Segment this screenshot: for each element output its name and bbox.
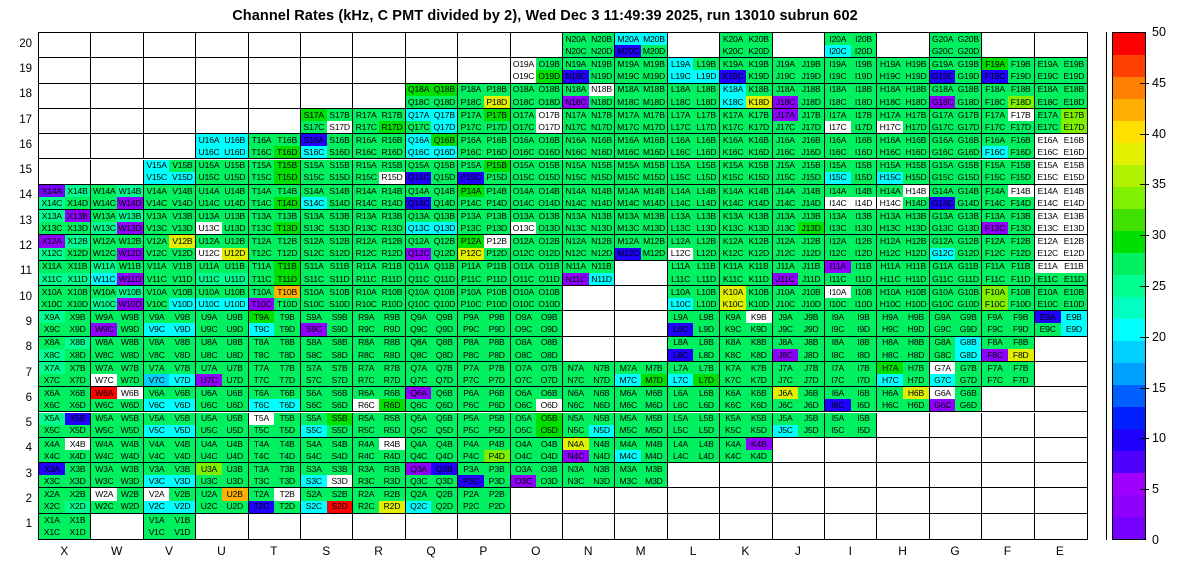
- channel-label[interactable]: W3D: [117, 475, 143, 487]
- heatmap-cell[interactable]: H18AH18BH18CH18D: [877, 84, 929, 109]
- channel-label[interactable]: R16C: [353, 146, 379, 158]
- channel-label[interactable]: O7D: [536, 374, 562, 386]
- heatmap-cell[interactable]: V11AV11BV11CV11D: [144, 261, 196, 286]
- channel-label[interactable]: X12C: [39, 248, 65, 260]
- channel-label[interactable]: O15C: [511, 172, 537, 184]
- channel-label[interactable]: N13D: [589, 222, 615, 234]
- channel-label[interactable]: R15D: [379, 172, 405, 184]
- heatmap-cell[interactable]: X1AX1BX1CX1D: [39, 514, 91, 539]
- channel-label[interactable]: I5D: [851, 425, 877, 437]
- heatmap-cell[interactable]: [982, 438, 1034, 463]
- channel-label[interactable]: U15C: [196, 172, 222, 184]
- channel-label[interactable]: V8D: [169, 349, 195, 361]
- channel-label[interactable]: R7B: [379, 362, 405, 374]
- channel-label[interactable]: T7A: [249, 362, 275, 374]
- heatmap-cell[interactable]: I12AI12BI12CI12D: [825, 235, 877, 260]
- heatmap-cell[interactable]: O13AO13BO13CO13D: [511, 210, 563, 235]
- channel-label[interactable]: I15A: [825, 160, 851, 172]
- channel-label[interactable]: W5A: [91, 413, 117, 425]
- channel-label[interactable]: E15C: [1035, 172, 1061, 184]
- channel-label[interactable]: K16C: [720, 146, 746, 158]
- channel-label[interactable]: V10A: [144, 286, 170, 298]
- channel-label[interactable]: U14D: [222, 197, 248, 209]
- channel-label[interactable]: R3A: [353, 463, 379, 475]
- channel-label[interactable]: L5A: [668, 413, 694, 425]
- channel-label[interactable]: X6C: [39, 399, 65, 411]
- channel-label[interactable]: R4B: [379, 438, 405, 450]
- channel-label[interactable]: K5D: [746, 425, 772, 437]
- heatmap-cell[interactable]: X4AX4BX4CX4D: [39, 438, 91, 463]
- heatmap-cell[interactable]: I13AI13BI13CI13D: [825, 210, 877, 235]
- channel-label[interactable]: I10C: [825, 298, 851, 310]
- channel-label[interactable]: L14B: [693, 185, 719, 197]
- channel-label[interactable]: J17D: [798, 121, 824, 133]
- channel-label[interactable]: M17B: [641, 109, 667, 121]
- channel-label[interactable]: X1B: [65, 514, 91, 527]
- channel-label[interactable]: G19A: [930, 58, 956, 70]
- channel-label[interactable]: W8A: [91, 337, 117, 349]
- channel-label[interactable]: V15B: [169, 160, 195, 172]
- channel-label[interactable]: N20D: [589, 45, 615, 57]
- channel-label[interactable]: N19A: [563, 58, 589, 70]
- heatmap-cell[interactable]: P13AP13BP13CP13D: [458, 210, 510, 235]
- heatmap-cell[interactable]: S3AS3BS3CS3D: [301, 463, 353, 488]
- channel-label[interactable]: X6D: [65, 399, 91, 411]
- channel-label[interactable]: M18C: [615, 96, 641, 108]
- channel-label[interactable]: H6D: [903, 399, 929, 411]
- channel-label[interactable]: P16A: [458, 134, 484, 146]
- heatmap-cell[interactable]: W4AW4BW4CW4D: [91, 438, 143, 463]
- heatmap-cell[interactable]: [196, 84, 248, 109]
- heatmap-cell[interactable]: R17AR17BR17CR17D: [353, 109, 405, 134]
- channel-label[interactable]: L17B: [693, 109, 719, 121]
- channel-label[interactable]: U2B: [222, 488, 248, 500]
- heatmap-cell[interactable]: [196, 58, 248, 83]
- channel-label[interactable]: H6C: [877, 399, 903, 411]
- channel-label[interactable]: N16A: [563, 134, 589, 146]
- heatmap-cell[interactable]: [144, 33, 196, 58]
- channel-label[interactable]: J8C: [773, 349, 799, 361]
- heatmap-cell[interactable]: R5AR5BR5CR5D: [353, 413, 405, 438]
- heatmap-cell[interactable]: [825, 438, 877, 463]
- channel-label[interactable]: P15A: [458, 160, 484, 172]
- channel-label[interactable]: O17B: [536, 109, 562, 121]
- channel-label[interactable]: R9B: [379, 311, 405, 323]
- channel-label[interactable]: N20B: [589, 33, 615, 45]
- channel-label[interactable]: N11A: [563, 261, 589, 273]
- heatmap-cell[interactable]: M7AM7BM7CM7D: [615, 362, 667, 387]
- channel-label[interactable]: U9D: [222, 323, 248, 335]
- channel-label[interactable]: O9C: [511, 323, 537, 335]
- heatmap-cell[interactable]: K19AK19BK19CK19D: [720, 58, 772, 83]
- channel-label[interactable]: G20D: [955, 45, 981, 57]
- channel-label[interactable]: M14D: [641, 197, 667, 209]
- heatmap-cell[interactable]: [196, 514, 248, 539]
- channel-label[interactable]: L6B: [693, 387, 719, 399]
- channel-label[interactable]: G20B: [955, 33, 981, 45]
- channel-label[interactable]: Q6A: [406, 387, 432, 399]
- channel-label[interactable]: Q2D: [431, 501, 457, 513]
- heatmap-cell[interactable]: [1035, 33, 1087, 58]
- heatmap-cell[interactable]: U10AU10BU10CU10D: [196, 286, 248, 311]
- channel-label[interactable]: J13D: [798, 222, 824, 234]
- channel-label[interactable]: W3A: [91, 463, 117, 475]
- channel-label[interactable]: F13A: [982, 210, 1008, 222]
- channel-label[interactable]: L8C: [668, 349, 694, 361]
- channel-label[interactable]: S4B: [327, 438, 353, 450]
- channel-label[interactable]: Q6B: [431, 387, 457, 399]
- channel-label[interactable]: W14C: [91, 197, 117, 209]
- heatmap-cell[interactable]: [982, 387, 1034, 412]
- channel-label[interactable]: T10B: [274, 286, 300, 298]
- channel-label[interactable]: F11B: [1008, 261, 1034, 273]
- channel-label[interactable]: O6B: [536, 387, 562, 399]
- heatmap-cell[interactable]: [39, 109, 91, 134]
- channel-label[interactable]: Q7A: [406, 362, 432, 374]
- channel-label[interactable]: S7C: [301, 374, 327, 386]
- heatmap-cell[interactable]: [615, 311, 667, 336]
- channel-label[interactable]: U12B: [222, 235, 248, 247]
- channel-label[interactable]: G12B: [955, 235, 981, 247]
- heatmap-cell[interactable]: [1035, 514, 1087, 539]
- channel-label[interactable]: V4A: [144, 438, 170, 450]
- channel-label[interactable]: V9B: [169, 311, 195, 323]
- heatmap-cell[interactable]: L13AL13BL13CL13D: [668, 210, 720, 235]
- channel-label[interactable]: X2D: [65, 501, 91, 513]
- channel-label[interactable]: S6B: [327, 387, 353, 399]
- heatmap-cell[interactable]: [773, 488, 825, 513]
- heatmap-cell[interactable]: O14AO14BO14CO14D: [511, 185, 563, 210]
- heatmap-cell[interactable]: Q4AQ4BQ4CQ4D: [406, 438, 458, 463]
- channel-label[interactable]: G7D: [955, 374, 981, 386]
- channel-label[interactable]: I6B: [851, 387, 877, 399]
- heatmap-cell[interactable]: H15AH15BH15CH15D: [877, 160, 929, 185]
- channel-label[interactable]: R5A: [353, 413, 379, 425]
- channel-label[interactable]: L16B: [693, 134, 719, 146]
- channel-label[interactable]: G13A: [930, 210, 956, 222]
- channel-label[interactable]: I17C: [825, 121, 851, 133]
- channel-label[interactable]: N12D: [589, 248, 615, 260]
- channel-label[interactable]: G8D: [955, 349, 981, 361]
- channel-label[interactable]: V1C: [144, 526, 170, 539]
- channel-label[interactable]: M19D: [641, 70, 667, 82]
- heatmap-cell[interactable]: T5AT5BT5CT5D: [249, 413, 301, 438]
- heatmap-cell[interactable]: [773, 514, 825, 539]
- channel-label[interactable]: N6D: [589, 399, 615, 411]
- channel-label[interactable]: H16D: [903, 146, 929, 158]
- heatmap-cell[interactable]: [91, 58, 143, 83]
- heatmap-cell[interactable]: [982, 413, 1034, 438]
- channel-label[interactable]: W5D: [117, 425, 143, 437]
- channel-label[interactable]: M17D: [641, 121, 667, 133]
- channel-label[interactable]: P2D: [484, 501, 510, 513]
- channel-label[interactable]: U14C: [196, 197, 222, 209]
- channel-label[interactable]: N5D: [589, 425, 615, 437]
- channel-label[interactable]: Q8A: [406, 337, 432, 349]
- channel-label[interactable]: K19D: [746, 70, 772, 82]
- channel-label[interactable]: G20A: [930, 33, 956, 45]
- channel-label[interactable]: M18D: [641, 96, 667, 108]
- channel-label[interactable]: O9A: [511, 311, 537, 323]
- channel-label[interactable]: G17C: [930, 121, 956, 133]
- channel-label[interactable]: W14B: [117, 185, 143, 197]
- channel-label[interactable]: V6C: [144, 399, 170, 411]
- channel-label[interactable]: R17A: [353, 109, 379, 121]
- heatmap-cell[interactable]: [406, 514, 458, 539]
- channel-label[interactable]: O7C: [511, 374, 537, 386]
- channel-label[interactable]: P11C: [458, 273, 484, 285]
- heatmap-cell[interactable]: E11AE11BE11CE11D: [1035, 261, 1087, 286]
- heatmap-cell[interactable]: V9AV9BV9CV9D: [144, 311, 196, 336]
- heatmap-cell[interactable]: U4AU4BU4CU4D: [196, 438, 248, 463]
- channel-label[interactable]: O15B: [536, 160, 562, 172]
- channel-label[interactable]: F7B: [1008, 362, 1034, 374]
- heatmap-cell[interactable]: R11AR11BR11CR11D: [353, 261, 405, 286]
- channel-label[interactable]: V8C: [144, 349, 170, 361]
- channel-label[interactable]: E16C: [1035, 146, 1061, 158]
- channel-label[interactable]: V11D: [169, 273, 195, 285]
- channel-label[interactable]: S7D: [327, 374, 353, 386]
- channel-label[interactable]: U9B: [222, 311, 248, 323]
- channel-label[interactable]: O11C: [511, 273, 537, 285]
- channel-label[interactable]: R6C: [353, 399, 379, 411]
- channel-label[interactable]: O4A: [511, 438, 537, 450]
- channel-label[interactable]: I10B: [851, 286, 877, 298]
- channel-label[interactable]: S8D: [327, 349, 353, 361]
- channel-label[interactable]: I14A: [825, 185, 851, 197]
- channel-label[interactable]: I18B: [851, 84, 877, 96]
- channel-label[interactable]: V4D: [169, 450, 195, 462]
- channel-label[interactable]: I17A: [825, 109, 851, 121]
- heatmap-cell[interactable]: X13AX13BX13CX13D: [39, 210, 91, 235]
- heatmap-cell[interactable]: R7AR7BR7CR7D: [353, 362, 405, 387]
- channel-label[interactable]: U3A: [196, 463, 222, 475]
- heatmap-cell[interactable]: [668, 33, 720, 58]
- channel-label[interactable]: W10C: [91, 298, 117, 310]
- channel-label[interactable]: T10C: [249, 298, 275, 310]
- channel-label[interactable]: S4D: [327, 450, 353, 462]
- channel-label[interactable]: P3D: [484, 475, 510, 487]
- channel-label[interactable]: T16A: [249, 134, 275, 146]
- channel-label[interactable]: O13D: [536, 222, 562, 234]
- heatmap-cell[interactable]: P14AP14BP14CP14D: [458, 185, 510, 210]
- channel-label[interactable]: W6C: [91, 399, 117, 411]
- channel-label[interactable]: G12C: [930, 248, 956, 260]
- heatmap-cell[interactable]: [39, 160, 91, 185]
- channel-label[interactable]: S14B: [327, 185, 353, 197]
- heatmap-cell[interactable]: G10AG10BG10CG10D: [930, 286, 982, 311]
- heatmap-cell[interactable]: [877, 33, 929, 58]
- channel-label[interactable]: I8C: [825, 349, 851, 361]
- channel-label[interactable]: G6D: [955, 399, 981, 411]
- channel-label[interactable]: U10B: [222, 286, 248, 298]
- channel-label[interactable]: I15C: [825, 172, 851, 184]
- channel-label[interactable]: H18B: [903, 84, 929, 96]
- channel-label[interactable]: X7A: [39, 362, 65, 374]
- channel-label[interactable]: W10D: [117, 298, 143, 310]
- channel-label[interactable]: K18C: [720, 96, 746, 108]
- channel-label[interactable]: M19B: [641, 58, 667, 70]
- heatmap-cell[interactable]: O18AO18BO18CO18D: [511, 84, 563, 109]
- channel-label[interactable]: G10D: [955, 298, 981, 310]
- channel-label[interactable]: N4C: [563, 450, 589, 462]
- heatmap-cell[interactable]: S16AS16BS16CS16D: [301, 134, 353, 159]
- channel-label[interactable]: R8D: [379, 349, 405, 361]
- heatmap-cell[interactable]: [930, 514, 982, 539]
- channel-label[interactable]: I19B: [851, 58, 877, 70]
- channel-label[interactable]: K8A: [720, 337, 746, 349]
- channel-label[interactable]: K11C: [720, 273, 746, 285]
- channel-label[interactable]: P14A: [458, 185, 484, 197]
- channel-label[interactable]: P16D: [484, 146, 510, 158]
- channel-label[interactable]: F15A: [982, 160, 1008, 172]
- heatmap-cell[interactable]: O8AO8BO8CO8D: [511, 337, 563, 362]
- channel-label[interactable]: P13A: [458, 210, 484, 222]
- channel-label[interactable]: G9A: [930, 311, 956, 323]
- channel-label[interactable]: T7B: [274, 362, 300, 374]
- heatmap-cell[interactable]: J18AJ18BJ18CJ18D: [773, 84, 825, 109]
- heatmap-cell[interactable]: P8AP8BP8CP8D: [458, 337, 510, 362]
- channel-label[interactable]: M20B: [641, 33, 667, 45]
- channel-label[interactable]: H17A: [877, 109, 903, 121]
- channel-label[interactable]: O16A: [511, 134, 537, 146]
- channel-label[interactable]: K12C: [720, 248, 746, 260]
- channel-label[interactable]: G7B: [955, 362, 981, 374]
- channel-label[interactable]: P5D: [484, 425, 510, 437]
- heatmap-cell[interactable]: S2AS2BS2CS2D: [301, 488, 353, 513]
- channel-label[interactable]: G8A: [930, 337, 956, 349]
- channel-label[interactable]: I15D: [851, 172, 877, 184]
- channel-label[interactable]: N16C: [563, 146, 589, 158]
- channel-label[interactable]: N15A: [563, 160, 589, 172]
- channel-label[interactable]: H9D: [903, 323, 929, 335]
- channel-label[interactable]: N5C: [563, 425, 589, 437]
- channel-label[interactable]: I16B: [851, 134, 877, 146]
- channel-label[interactable]: X14C: [39, 197, 65, 209]
- heatmap-cell[interactable]: P5AP5BP5CP5D: [458, 413, 510, 438]
- channel-label[interactable]: P6C: [458, 399, 484, 411]
- channel-label[interactable]: P17C: [458, 121, 484, 133]
- channel-label[interactable]: H17C: [877, 121, 903, 133]
- channel-label[interactable]: O8C: [511, 349, 537, 361]
- channel-label[interactable]: P6B: [484, 387, 510, 399]
- channel-label[interactable]: Q11B: [431, 261, 457, 273]
- channel-label[interactable]: S10C: [301, 298, 327, 310]
- channel-label[interactable]: F9D: [1008, 323, 1034, 335]
- channel-label[interactable]: T7D: [274, 374, 300, 386]
- channel-label[interactable]: H14A: [877, 185, 903, 197]
- heatmap-cell[interactable]: U11AU11BU11CU11D: [196, 261, 248, 286]
- channel-label[interactable]: F18B: [1008, 84, 1034, 96]
- channel-label[interactable]: M15D: [641, 172, 667, 184]
- channel-label[interactable]: S6A: [301, 387, 327, 399]
- channel-label[interactable]: P2B: [484, 488, 510, 500]
- channel-label[interactable]: O12A: [511, 235, 537, 247]
- channel-label[interactable]: T7C: [249, 374, 275, 386]
- channel-label[interactable]: I18A: [825, 84, 851, 96]
- channel-label[interactable]: E15D: [1061, 172, 1087, 184]
- channel-label[interactable]: E13D: [1061, 222, 1087, 234]
- channel-label[interactable]: J8D: [798, 349, 824, 361]
- channel-label[interactable]: J9B: [798, 311, 824, 323]
- heatmap-cell[interactable]: S6AS6BS6CS6D: [301, 387, 353, 412]
- channel-label[interactable]: H11B: [903, 261, 929, 273]
- heatmap-cell[interactable]: O10AO10BO10CO10D: [511, 286, 563, 311]
- channel-label[interactable]: V13D: [169, 222, 195, 234]
- channel-label[interactable]: I12A: [825, 235, 851, 247]
- channel-label[interactable]: P9B: [484, 311, 510, 323]
- channel-label[interactable]: X3D: [65, 475, 91, 487]
- channel-label[interactable]: S12C: [301, 248, 327, 260]
- channel-label[interactable]: G12A: [930, 235, 956, 247]
- channel-label[interactable]: U5A: [196, 413, 222, 425]
- heatmap-cell[interactable]: V1AV1BV1CV1D: [144, 514, 196, 539]
- channel-label[interactable]: L19D: [693, 70, 719, 82]
- heatmap-cell[interactable]: [353, 33, 405, 58]
- heatmap-cell[interactable]: O12AO12BO12CO12D: [511, 235, 563, 260]
- heatmap-cell[interactable]: J14AJ14BJ14CJ14D: [773, 185, 825, 210]
- heatmap-cell[interactable]: [825, 488, 877, 513]
- channel-label[interactable]: O19B: [536, 58, 562, 70]
- channel-label[interactable]: W9C: [91, 323, 117, 335]
- channel-label[interactable]: I15B: [851, 160, 877, 172]
- channel-label[interactable]: G8B: [955, 337, 981, 349]
- heatmap-cell[interactable]: L19AL19BL19CL19D: [668, 58, 720, 83]
- heatmap-cell[interactable]: X8AX8BX8CX8D: [39, 337, 91, 362]
- channel-label[interactable]: T2D: [274, 501, 300, 513]
- channel-label[interactable]: X1D: [65, 526, 91, 539]
- channel-label[interactable]: X6B: [65, 387, 91, 399]
- heatmap-cell[interactable]: F16AF16BF16CF16D: [982, 134, 1034, 159]
- heatmap-cell[interactable]: [720, 488, 772, 513]
- channel-label[interactable]: K20B: [746, 33, 772, 45]
- heatmap-cell[interactable]: J6AJ6BJ6CJ6D: [773, 387, 825, 412]
- heatmap-cell[interactable]: [91, 514, 143, 539]
- heatmap-cell[interactable]: T3AT3BT3CT3D: [249, 463, 301, 488]
- heatmap-cell[interactable]: F7AF7BF7CF7D: [982, 362, 1034, 387]
- heatmap-cell[interactable]: U13AU13BU13CU13D: [196, 210, 248, 235]
- channel-label[interactable]: E11B: [1061, 261, 1087, 273]
- heatmap-cell[interactable]: [1035, 488, 1087, 513]
- channel-label[interactable]: O13C: [511, 222, 537, 234]
- channel-label[interactable]: L6C: [668, 399, 694, 411]
- channel-label[interactable]: W14D: [117, 197, 143, 209]
- channel-label[interactable]: K9C: [720, 323, 746, 335]
- channel-label[interactable]: V7D: [169, 374, 195, 386]
- channel-label[interactable]: P15C: [458, 172, 484, 184]
- heatmap-cell[interactable]: [91, 33, 143, 58]
- channel-label[interactable]: L11C: [668, 273, 694, 285]
- channel-label[interactable]: P13C: [458, 222, 484, 234]
- heatmap-cell[interactable]: [511, 488, 563, 513]
- channel-label[interactable]: J18A: [773, 84, 799, 96]
- channel-label[interactable]: G15C: [930, 172, 956, 184]
- heatmap-cell[interactable]: [91, 109, 143, 134]
- channel-label[interactable]: K13D: [746, 222, 772, 234]
- channel-label[interactable]: H14C: [877, 197, 903, 209]
- channel-label[interactable]: V14A: [144, 185, 170, 197]
- channel-label[interactable]: G13B: [955, 210, 981, 222]
- channel-label[interactable]: R12C: [353, 248, 379, 260]
- channel-label[interactable]: J19B: [798, 58, 824, 70]
- heatmap-cell[interactable]: M18AM18BM18CM18D: [615, 84, 667, 109]
- heatmap-cell[interactable]: O15AO15BO15CO15D: [511, 160, 563, 185]
- heatmap-cell[interactable]: N19AN19BN19CN19D: [563, 58, 615, 83]
- channel-label[interactable]: W10A: [91, 286, 117, 298]
- channel-label[interactable]: J16D: [798, 146, 824, 158]
- channel-label[interactable]: T16C: [249, 146, 275, 158]
- channel-label[interactable]: W9A: [91, 311, 117, 323]
